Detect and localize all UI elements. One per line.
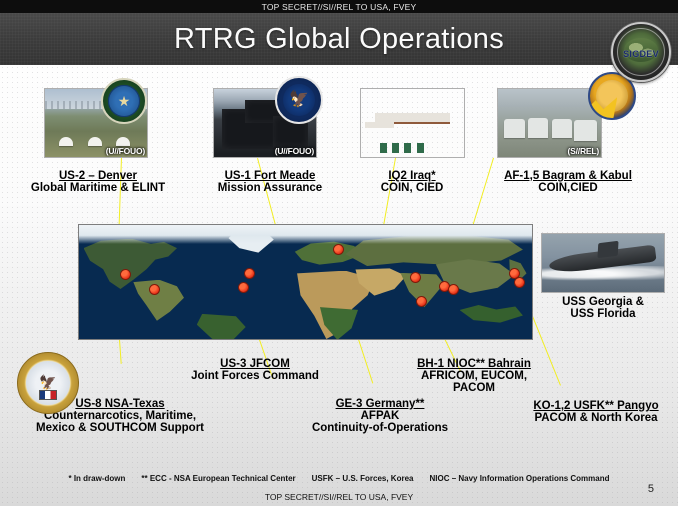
site-line-2: Joint Forces Command bbox=[168, 370, 342, 382]
site-subtitle: COIN,CIED bbox=[483, 182, 653, 194]
site-title: AF-1,5 Bagram & Kabul bbox=[483, 170, 653, 182]
site-subtitle: Mission Assurance bbox=[190, 182, 350, 194]
world-map bbox=[78, 224, 533, 340]
tent-structure bbox=[528, 118, 549, 138]
site-subtitle: Global Maritime & ELINT bbox=[8, 182, 188, 194]
footnote-3: USFK – U.S. Forces, Korea bbox=[312, 474, 414, 483]
tent-structure bbox=[552, 119, 573, 138]
footnote-2: ** ECC - NSA European Technical Center bbox=[141, 474, 295, 483]
label-uss-georgia-florida: USS Georgia & USS Florida bbox=[541, 296, 665, 320]
label-ge-3-germany: GE-3 Germany** AFPAK Continuity-of-Opera… bbox=[290, 398, 470, 434]
eagle-icon: 🦅 bbox=[39, 375, 56, 389]
tent-structure bbox=[504, 119, 525, 138]
classification-banner-bottom: TOP SECRET//SI//REL TO USA, FVEY bbox=[0, 492, 678, 502]
label-us-3-jfcom: US-3 JFCOM Joint Forces Command bbox=[168, 358, 342, 382]
photo-iq2-iraq bbox=[360, 88, 465, 158]
eagle-icon: 🦅 bbox=[289, 92, 309, 108]
texas-cryptologic-center-seal: 🦅 bbox=[17, 352, 79, 414]
aerospace-data-facility-seal: ★ bbox=[101, 78, 147, 124]
container-icon bbox=[417, 143, 424, 153]
site-title: US-1 Fort Meade bbox=[190, 170, 350, 182]
photo-marking: (S//REL) bbox=[568, 146, 599, 156]
footnote-4: NIOC – Navy Information Operations Comma… bbox=[429, 474, 609, 483]
page-title: RTRG Global Operations bbox=[0, 13, 678, 65]
roof-structure bbox=[365, 122, 394, 129]
sigdev-seal-label: SIGDEV bbox=[613, 49, 669, 59]
site-line-3: Mexico & SOUTHCOM Support bbox=[8, 422, 232, 434]
eagle-icon: ★ bbox=[118, 94, 131, 108]
container-icon bbox=[404, 143, 411, 153]
label-af-1-5-bagram-kabul: AF-1,5 Bagram & Kabul COIN,CIED bbox=[483, 170, 653, 194]
photo-marking: (U//FOUO) bbox=[275, 146, 314, 156]
site-title: KO-1,2 USFK** Pangyo bbox=[516, 400, 676, 412]
label-us-2-denver: US-2 – Denver Global Maritime & ELINT bbox=[8, 170, 188, 194]
site-line-3: PACOM bbox=[396, 382, 552, 394]
map-marker-iraq bbox=[410, 272, 421, 283]
site-title: US-3 JFCOM bbox=[168, 358, 342, 370]
container-icon bbox=[380, 143, 387, 153]
roof-structure bbox=[375, 113, 449, 121]
photo-marking: (U//FOUO) bbox=[106, 146, 145, 156]
radome-icon bbox=[88, 137, 102, 146]
label-bh-1-nioc-bahrain: BH-1 NIOC** Bahrain AFRICOM, EUCOM, PACO… bbox=[396, 358, 552, 394]
iraq-photo-image bbox=[360, 88, 465, 158]
site-line-3: Continuity-of-Operations bbox=[290, 422, 470, 434]
sigdev-seal: SIGDEV bbox=[611, 22, 671, 82]
slide: TOP SECRET//SI//REL TO USA, FVEY RTRG Gl… bbox=[0, 0, 678, 506]
footnotes: * In draw-down ** ECC - NSA European Tec… bbox=[0, 474, 678, 483]
label-us-1-fort-meade: US-1 Fort Meade Mission Assurance bbox=[190, 170, 350, 194]
tent-structure bbox=[574, 120, 597, 140]
radome-icon bbox=[116, 137, 130, 146]
naval-line-1: USS Georgia & bbox=[541, 296, 665, 308]
texas-flag-icon bbox=[39, 390, 57, 400]
photo-uss-georgia-florida bbox=[541, 233, 665, 293]
bagram-photo-image: (S//REL) bbox=[497, 88, 602, 158]
container-icon bbox=[392, 143, 399, 153]
site-line-2: AFPAK bbox=[290, 410, 470, 422]
classification-banner-top: TOP SECRET//SI//REL TO USA, FVEY bbox=[0, 0, 678, 13]
submarine-photo-image bbox=[541, 233, 665, 293]
map-arctic-ice bbox=[79, 225, 532, 244]
photo-af-1-5-bagram-kabul: (S//REL) bbox=[497, 88, 602, 158]
site-title: BH-1 NIOC** Bahrain bbox=[396, 358, 552, 370]
site-line-2: PACOM & North Korea bbox=[516, 412, 676, 424]
naval-line-2: USS Florida bbox=[541, 308, 665, 320]
site-line-2: AFRICOM, EUCOM, bbox=[396, 370, 552, 382]
map-marker-germany bbox=[333, 244, 344, 255]
site-title: IQ2 Iraq* bbox=[352, 170, 472, 182]
submarine-sail bbox=[598, 241, 619, 258]
site-title: GE-3 Germany** bbox=[290, 398, 470, 410]
nsa-seal: 🦅 bbox=[275, 76, 323, 124]
label-ko-1-2-usfk-pangyo: KO-1,2 USFK** Pangyo PACOM & North Korea bbox=[516, 400, 676, 424]
map-marker-jfcom bbox=[238, 282, 249, 293]
footnote-1: * In draw-down bbox=[69, 474, 126, 483]
radome-icon bbox=[59, 137, 73, 146]
site-title: US-2 – Denver bbox=[8, 170, 188, 182]
label-iq2-iraq: IQ2 Iraq* COIN, CIED bbox=[352, 170, 472, 194]
site-subtitle: COIN, CIED bbox=[352, 182, 472, 194]
